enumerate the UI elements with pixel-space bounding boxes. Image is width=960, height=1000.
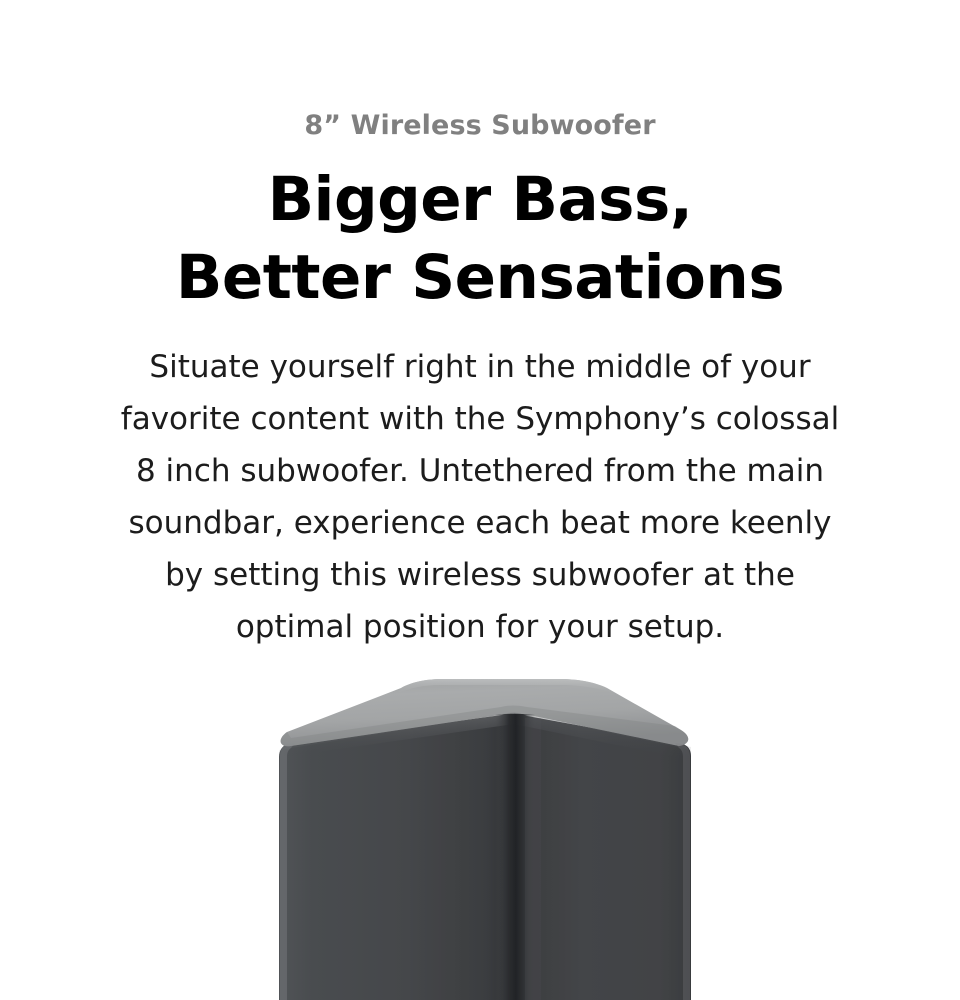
description-line-3: 8 inch subwoofer. Untethered from the ma… [0,445,960,497]
cabinet-ambient-shading [279,712,691,1000]
product-image: PRISM+ [0,660,960,1000]
hero-copy-block: 8” Wireless Subwoofer Bigger Bass, Bette… [0,0,960,653]
description-paragraph: Situate yourself right in the middle of … [0,341,960,653]
description-line-5: by setting this wireless subwoofer at th… [0,549,960,601]
subwoofer-body [279,679,691,1000]
product-feature-page: 8” Wireless Subwoofer Bigger Bass, Bette… [0,0,960,1000]
headline-line-2: Better Sensations [0,239,960,317]
description-line-2: favorite content with the Symphony’s col… [0,393,960,445]
description-line-4: soundbar, experience each beat more keen… [0,497,960,549]
description-line-6: optimal position for your setup. [0,601,960,653]
description-line-1: Situate yourself right in the middle of … [0,341,960,393]
subwoofer-illustration [0,660,960,1000]
headline-line-1: Bigger Bass, [0,161,960,239]
eyebrow-label: 8” Wireless Subwoofer [0,112,960,139]
page-title: Bigger Bass, Better Sensations [0,161,960,317]
